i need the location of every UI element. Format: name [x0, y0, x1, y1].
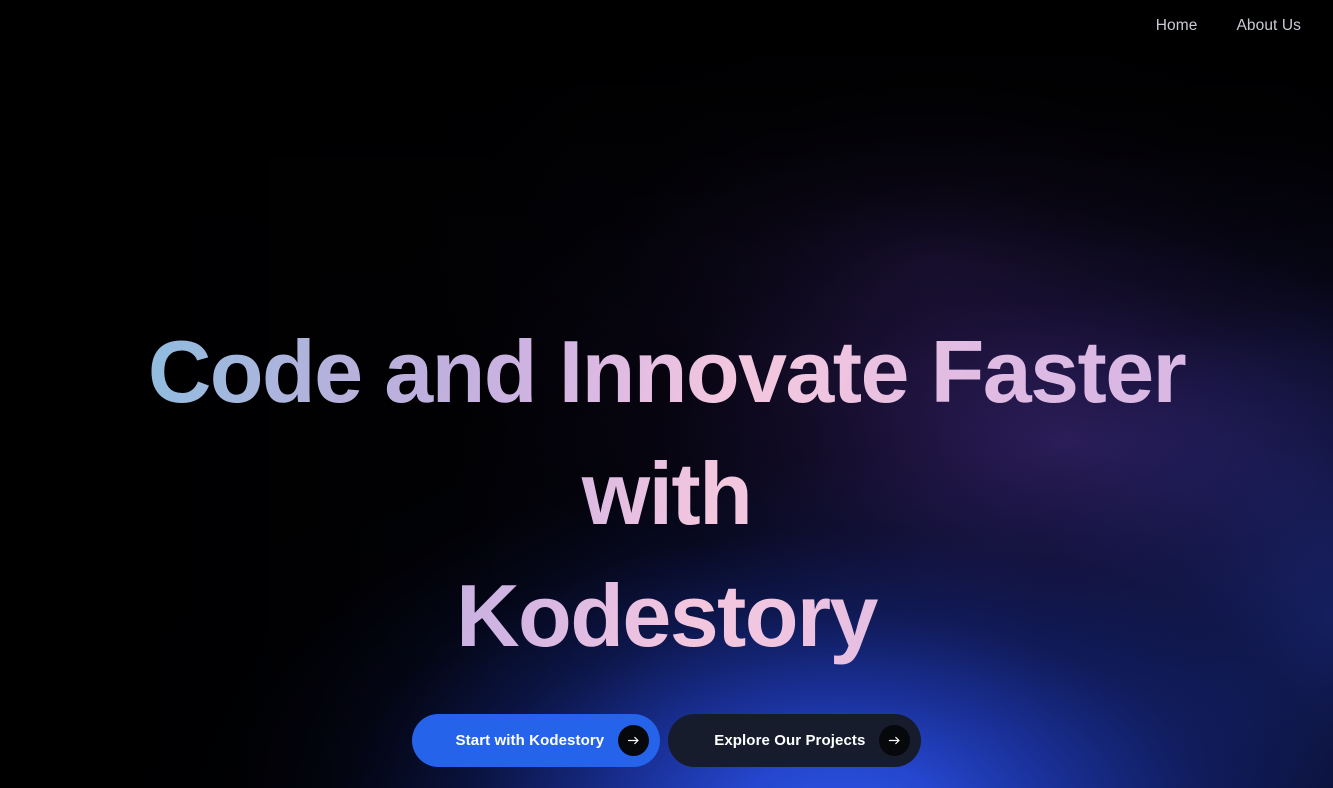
- nav-link-home[interactable]: Home: [1156, 17, 1198, 35]
- start-with-kodestory-button-label: Start with Kodestory: [456, 732, 605, 749]
- hero-page: Home About Us Code and Innovate Faster w…: [0, 0, 1333, 788]
- top-navbar: Home About Us: [0, 0, 1333, 52]
- nav-link-about-us[interactable]: About Us: [1236, 17, 1301, 35]
- arrow-right-icon: [879, 725, 910, 756]
- hero-title-line-2: Kodestory: [82, 555, 1252, 677]
- nav-links: Home About Us: [1156, 17, 1301, 35]
- arrow-right-icon: [618, 725, 649, 756]
- hero-title: Code and Innovate Faster with Kodestory: [82, 311, 1252, 677]
- hero-section: Code and Innovate Faster with Kodestory …: [0, 0, 1333, 788]
- start-with-kodestory-button[interactable]: Start with Kodestory: [412, 714, 661, 767]
- hero-actions: Start with Kodestory Explore Our Project…: [412, 714, 922, 767]
- hero-title-line-1: Code and Innovate Faster with: [148, 322, 1185, 543]
- explore-our-projects-button[interactable]: Explore Our Projects: [668, 714, 921, 767]
- explore-our-projects-button-label: Explore Our Projects: [714, 732, 865, 749]
